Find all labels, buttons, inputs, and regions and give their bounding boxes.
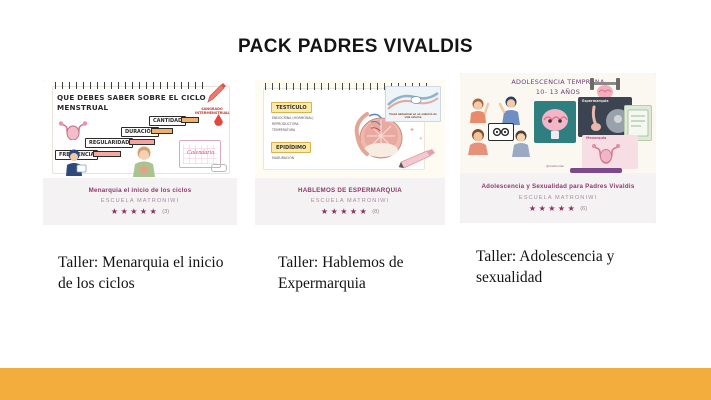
inset-diagram xyxy=(386,87,440,113)
person-illustration-left xyxy=(63,148,89,176)
pencil-icon xyxy=(397,148,437,170)
review-count: (8) xyxy=(372,209,379,215)
star-icon: ★ xyxy=(140,208,147,216)
abdominal-wall-inset: Pared abdominal en un embrión de vida ex… xyxy=(385,86,441,122)
sparkle-icon: ✦ xyxy=(419,136,423,142)
sparkle-icon: ✦ xyxy=(409,126,415,134)
child-illustration-1 xyxy=(466,97,490,123)
menarquia-tile: Menarquia xyxy=(582,135,638,169)
star-icon: ★ xyxy=(558,205,565,213)
annotation-sangrado-intermenstrual: SANGRADO INTERMENSTRUAL xyxy=(195,107,229,115)
paperclip-icon xyxy=(211,164,227,172)
brain-icon xyxy=(534,101,576,143)
rating-stars: ★ ★ ★ ★ ★ (3) xyxy=(111,208,169,216)
epididimo-item-1: MADURACIÓN xyxy=(272,155,294,161)
star-icon: ★ xyxy=(321,208,328,216)
card-footer: Menarquia el inicio de los ciclos ESCUEL… xyxy=(43,178,237,225)
page-title: PACK PADRES VIVALDIS xyxy=(0,36,711,58)
collage-headline-line1: ADOLESCENCIA TEMPRANA xyxy=(460,78,656,88)
tag-epididimo: EPIDÍDIMO xyxy=(271,142,311,153)
card-footer: Adolescencia y Sexualidad para Padres Vi… xyxy=(460,173,656,223)
star-icon: ★ xyxy=(130,208,137,216)
rating-stars: ★ ★ ★ ★ ★ (6) xyxy=(529,205,587,213)
menstrual-cycle-infographic: QUE DEBES SABER SOBRE EL CICLO MENSTRUAL… xyxy=(43,80,237,178)
tag-bar-4 xyxy=(181,117,199,123)
person-illustration-right xyxy=(129,145,159,177)
label-menarquia: Menarquia xyxy=(586,136,606,140)
star-icon: ★ xyxy=(331,208,338,216)
uterus-illustration xyxy=(58,118,88,140)
product-card-menarquia[interactable]: QUE DEBES SABER SOBRE EL CICLO MENSTRUAL… xyxy=(43,80,237,225)
tag-bar-1 xyxy=(93,151,121,157)
calendar-label: Calendario xyxy=(187,150,214,156)
review-count: (6) xyxy=(580,206,587,212)
caption-adolescencia: Taller: Adolescencia y sexualidad xyxy=(476,246,666,289)
seller-name: ESCUELA MATRONIWI xyxy=(519,195,597,201)
star-icon: ★ xyxy=(360,208,367,216)
seller-name: ESCUELA MATRONIWI xyxy=(101,198,179,204)
brain-tile xyxy=(534,101,576,143)
slide-canvas: PACK PADRES VIVALDIS QUE DEBES SABER SOB… xyxy=(0,0,711,400)
testiculo-item-3: TEMPERATURA xyxy=(272,127,295,133)
product-thumbnail-menarquia: QUE DEBES SABER SOBRE EL CICLO MENSTRUAL… xyxy=(43,80,237,178)
card-footer: HABLEMOS DE ESPERMARQUIA ESCUELA MATRONI… xyxy=(255,178,445,225)
product-title: Adolescencia y Sexualidad para Padres Vi… xyxy=(475,183,640,191)
star-icon: ★ xyxy=(548,205,555,213)
star-icon: ★ xyxy=(111,208,118,216)
product-card-espermarquia[interactable]: TESTÍCULO ENDOCRINA (HORMONAL) REPRODUCT… xyxy=(255,80,445,225)
gear-icon xyxy=(489,124,513,140)
label-espermarquia: Espermarquia xyxy=(582,99,609,103)
caption-menarquia: Taller: Menarquia el inicio de los ciclo… xyxy=(58,252,238,295)
testicle-anatomy-infographic: TESTÍCULO ENDOCRINA (HORMONAL) REPRODUCT… xyxy=(255,80,445,178)
inset-caption: Pared abdominal en un embrión de vida ex… xyxy=(388,114,438,120)
adolescence-collage: ADOLESCENCIA TEMPRANA 10- 13 AÑOS xyxy=(460,73,656,173)
card-inner: ADOLESCENCIA TEMPRANA 10- 13 AÑOS xyxy=(460,73,656,223)
seller-name: ESCUELA MATRONIWI xyxy=(311,198,389,204)
product-thumbnail-espermarquia: TESTÍCULO ENDOCRINA (HORMONAL) REPRODUCT… xyxy=(255,80,445,178)
product-card-adolescencia[interactable]: ADOLESCENCIA TEMPRANA 10- 13 AÑOS xyxy=(460,73,656,223)
handle-label: @matroniwi xyxy=(546,164,564,168)
card-inner: QUE DEBES SABER SOBRE EL CICLO MENSTRUAL… xyxy=(43,80,237,225)
child-illustration-3 xyxy=(498,95,524,125)
uterus-icon xyxy=(582,135,638,169)
spiral-binding-icon xyxy=(55,82,209,89)
review-count: (3) xyxy=(162,209,169,215)
product-title: HABLEMOS DE ESPERMARQUIA xyxy=(292,187,408,195)
product-thumbnail-adolescencia: ADOLESCENCIA TEMPRANA 10- 13 AÑOS xyxy=(460,73,656,173)
star-icon: ★ xyxy=(539,205,546,213)
tag-regularidad: REGULARIDAD xyxy=(85,138,133,148)
star-icon: ★ xyxy=(340,208,347,216)
bottom-accent-bar xyxy=(0,368,711,400)
star-icon: ★ xyxy=(529,205,536,213)
tag-testiculo: TESTÍCULO xyxy=(271,102,312,113)
caption-espermarquia: Taller: Hablemos de Expermarquia xyxy=(278,252,453,295)
star-icon: ★ xyxy=(150,208,157,216)
star-icon: ★ xyxy=(350,208,357,216)
star-icon: ★ xyxy=(121,208,128,216)
gear-chip-tile xyxy=(488,123,514,141)
tag-bar-3 xyxy=(151,128,173,134)
star-icon: ★ xyxy=(568,205,575,213)
collage-headline: ADOLESCENCIA TEMPRANA 10- 13 AÑOS xyxy=(460,78,656,97)
card-inner: TESTÍCULO ENDOCRINA (HORMONAL) REPRODUCT… xyxy=(255,80,445,225)
product-title: Menarquia el inicio de los ciclos xyxy=(83,187,198,195)
rating-stars: ★ ★ ★ ★ ★ (8) xyxy=(321,208,379,216)
collage-headline-line2: 10- 13 AÑOS xyxy=(460,88,656,98)
pencil-icon xyxy=(205,82,227,104)
